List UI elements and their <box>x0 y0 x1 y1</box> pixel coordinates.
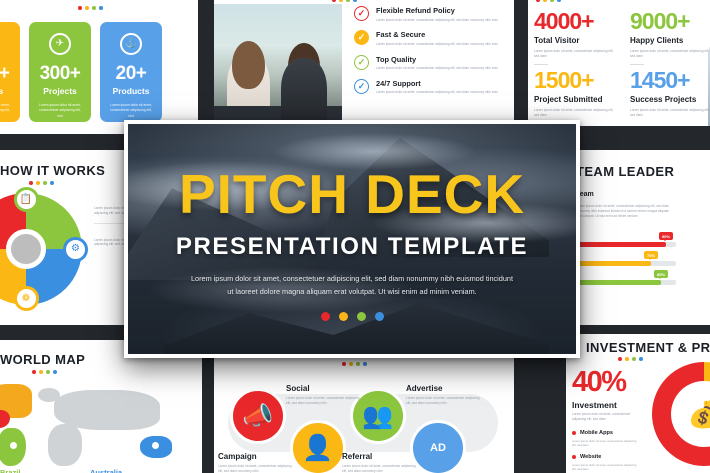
feature-item-support[interactable]: ✓ 24/7 Support Lorem ipsum dolor sit ame… <box>354 79 506 95</box>
counter-success-projects[interactable]: 1450+ Success Projects Lorem ipsum dolor… <box>630 69 710 118</box>
process-title: Social <box>286 384 364 393</box>
stat-label: Clients <box>0 86 3 96</box>
feature-item-fast-secure[interactable]: ✓ Fast & Secure Lorem ipsum dolor sit am… <box>354 30 506 46</box>
stat-label: Products <box>113 86 150 96</box>
legend-bullet-icon <box>572 431 576 435</box>
investment-label: Investment <box>572 400 617 410</box>
counter-number: 1500+ <box>534 69 616 92</box>
feature-desc: Lorem ipsum dolor sit amet, consectetuer… <box>376 66 498 71</box>
process-desc: Lorem ipsum dolor sit amet, consectetuer… <box>286 396 364 406</box>
dot-green <box>46 370 50 374</box>
page-title: WORLD MAP <box>0 352 85 367</box>
legend-name: Mobile Apps <box>580 430 613 436</box>
counter-number: 9000+ <box>630 10 710 33</box>
page-title: INVESTMENT & PRO <box>586 340 710 355</box>
feature-title: Flexible Refund Policy <box>376 6 498 15</box>
gear-glyph: ⚙ <box>71 244 80 254</box>
preview-stage: ⚒ 700+ Clients Lorem ipsum dolor sit ame… <box>0 0 710 473</box>
layers-icon: ⚓ <box>120 33 142 55</box>
hero-paragraph: Lorem ipsum dolor sit amet, consectetuer… <box>187 273 517 299</box>
stat-desc: Lorem ipsum dolor sit amet, consectetuer… <box>109 103 153 119</box>
skill-bar-row[interactable]: 90% <box>576 242 676 247</box>
stat-number: 300+ <box>40 63 81 85</box>
skill-value-badge: 85% <box>654 270 668 278</box>
dot-yellow <box>36 181 40 185</box>
check-icon: ✓ <box>354 30 369 45</box>
feature-title: Top Quality <box>376 55 498 64</box>
skill-value: 85% <box>657 272 665 277</box>
clipboard-icon[interactable]: 📋 <box>14 187 39 212</box>
dot-yellow <box>625 357 629 361</box>
map-marker-name: Australia <box>90 468 122 473</box>
rocket-icon: ✈ <box>49 33 71 55</box>
dot-blue <box>639 357 643 361</box>
users-glyph: 👥 <box>362 402 393 431</box>
counter-project-submitted[interactable]: 1500+ Project Submitted Lorem ipsum dolo… <box>534 69 616 118</box>
map-marker-name: Brazil <box>0 468 20 473</box>
dot-green <box>550 0 554 2</box>
dot-yellow <box>543 0 547 2</box>
stat-desc: Lorem ipsum dolor sit amet, consectetuer… <box>0 103 11 119</box>
dot-green <box>632 357 636 361</box>
process-label-social: Social Lorem ipsum dolor sit amet, conse… <box>286 384 364 406</box>
counter-desc: Lorem ipsum dolor sit amet, consectetuer… <box>630 49 710 59</box>
skill-value: 75% <box>647 253 655 258</box>
money-bag-glyph: 💰 <box>688 399 710 430</box>
clipboard-glyph: 📋 <box>20 195 32 205</box>
dot-green <box>92 6 96 10</box>
dot-yellow[interactable] <box>339 312 348 321</box>
dot-yellow <box>85 6 89 10</box>
feature-title: Fast & Secure <box>376 30 498 39</box>
skill-bar-fill <box>576 242 666 247</box>
counter-label: Project Submitted <box>534 95 616 104</box>
dot-green <box>346 0 350 2</box>
slide-world-map[interactable]: WORLD MAP Brazil Lorem ipsum dolor sit a… <box>0 340 202 473</box>
rocket-glyph: ✈ <box>56 39 64 49</box>
skill-value-badge: 90% <box>659 232 673 240</box>
stat-card-products[interactable]: ⚓ 20+ Products Lorem ipsum dolor sit ame… <box>100 22 162 122</box>
feature-desc: Lorem ipsum dolor sit amet, consectetuer… <box>376 18 498 23</box>
counter-desc: Lorem ipsum dolor sit amet, consectetuer… <box>630 108 710 118</box>
stat-card-row: ⚒ 700+ Clients Lorem ipsum dolor sit ame… <box>0 22 162 122</box>
skill-value: 90% <box>662 234 670 239</box>
gear-icon[interactable]: ⚙ <box>63 237 88 262</box>
stat-number: 20+ <box>116 63 147 85</box>
feature-item-top-quality[interactable]: ✓ Top Quality Lorem ipsum dolor sit amet… <box>354 55 506 71</box>
legend-desc: Lorem ipsum dolor sit amet, consectetuer… <box>572 463 638 471</box>
slide-dots-indicator <box>32 370 57 374</box>
slide-dots-indicator <box>618 357 643 361</box>
skill-bar-list: 90% 75% 85% <box>576 242 676 299</box>
feature-desc: Lorem ipsum dolor sit amet, consectetuer… <box>376 42 498 47</box>
user-glyph: 👤 <box>302 434 333 463</box>
skill-bar-track <box>576 280 676 285</box>
map-label-australia: Australia Lorem ipsum dolor sit amet, co… <box>90 468 159 473</box>
investment-percentage: 40% <box>572 366 626 399</box>
dot-red <box>32 370 36 374</box>
slide-dots-indicator <box>332 0 357 2</box>
process-label-campaign: Campaign Lorem ipsum dolor sit amet, con… <box>218 452 296 473</box>
slide-features[interactable]: ✓ Flexible Refund Policy Lorem ipsum dol… <box>214 0 514 126</box>
process-title: Referral <box>342 452 420 461</box>
team-paragraph: Lorem ipsum dolor sit amet, consectetuer… <box>576 204 672 218</box>
megaphone-icon[interactable]: 📣 <box>230 388 286 444</box>
divider <box>534 64 548 65</box>
money-bag-icon: 💰 <box>671 381 710 447</box>
dot-yellow <box>349 362 353 366</box>
hero-subtitle: PRESENTATION TEMPLATE <box>176 233 528 261</box>
check-icon: ✓ <box>354 55 369 70</box>
dot-yellow <box>39 370 43 374</box>
counter-grid: 4000+ Total Visitor Lorem ipsum dolor si… <box>534 10 710 119</box>
legend-item-website[interactable]: Website Lorem ipsum dolor sit amet, cons… <box>572 454 638 471</box>
dot-red <box>536 0 540 2</box>
feature-title: 24/7 Support <box>376 79 498 88</box>
slide-dots-indicator <box>536 0 561 2</box>
counter-label: Success Projects <box>630 95 710 104</box>
feature-desc: Lorem ipsum dolor sit amet, consectetuer… <box>376 90 498 95</box>
process-label-advertise: Advertise Lorem ipsum dolor sit amet, co… <box>406 384 484 406</box>
hero-title: PITCH DECK <box>179 167 525 222</box>
dot-red[interactable] <box>321 312 330 321</box>
legend-title: Mobile Apps <box>572 430 638 436</box>
landmass-africa <box>48 424 82 466</box>
process-title: Campaign <box>218 452 296 461</box>
skill-value-badge: 75% <box>644 251 658 259</box>
photo-person-right <box>288 43 320 89</box>
skill-bar-row[interactable]: 75% <box>576 261 676 266</box>
dot-green[interactable] <box>357 312 366 321</box>
process-wheel-diagram: 📋 ⚙ ❁ ⌖ <box>0 193 82 305</box>
counter-label: Happy Clients <box>630 36 710 45</box>
stat-number: 700+ <box>0 63 9 85</box>
dot-red <box>78 6 82 10</box>
check-icon: ✓ <box>354 6 369 21</box>
skill-bar-row[interactable]: 85% <box>576 280 676 285</box>
process-desc: Lorem ipsum dolor sit amet, consectetuer… <box>406 396 484 406</box>
feature-list: ✓ Flexible Refund Policy Lorem ipsum dol… <box>354 6 506 103</box>
divider <box>630 64 644 65</box>
target-icon[interactable]: ❁ <box>14 286 39 311</box>
counter-number: 4000+ <box>534 10 616 33</box>
dot-blue <box>53 370 57 374</box>
target-glyph: ❁ <box>22 294 30 304</box>
legend-item-mobile-apps[interactable]: Mobile Apps Lorem ipsum dolor sit amet, … <box>572 430 638 447</box>
megaphone-glyph: 📣 <box>242 402 273 431</box>
legend-bullet-icon <box>572 455 576 459</box>
dot-blue <box>557 0 561 2</box>
dot-red <box>332 0 336 2</box>
counter-desc: Lorem ipsum dolor sit amet, consectetuer… <box>534 108 616 118</box>
investment-paragraph: Lorem ipsum dolor sit amet, consectetuer… <box>572 412 634 422</box>
legend-title: Website <box>572 454 638 460</box>
skill-bar-track <box>576 242 676 247</box>
process-desc: Lorem ipsum dolor sit amet, consectetuer… <box>218 464 296 473</box>
slide-dots-indicator <box>78 6 103 10</box>
counter-happy-clients[interactable]: 9000+ Happy Clients Lorem ipsum dolor si… <box>630 10 710 65</box>
process-chain: 📣 👤 👥 AD Campaign Lorem ipsum dolor sit … <box>214 372 514 473</box>
landmass-usa-highlight[interactable] <box>0 410 10 428</box>
dot-blue <box>363 362 367 366</box>
user-icon[interactable]: 👤 <box>290 420 346 473</box>
page-title: HOW IT WORKS <box>0 163 105 178</box>
skill-bar-fill <box>576 261 651 266</box>
skill-bar-track <box>576 261 676 266</box>
investment-donut-chart[interactable]: 💰 <box>652 362 710 466</box>
process-title: Advertise <box>406 384 484 393</box>
skill-bar-fill <box>576 280 661 285</box>
dot-yellow <box>339 0 343 2</box>
counter-number: 1450+ <box>630 69 710 92</box>
layers-glyph: ⚓ <box>125 39 137 49</box>
stat-card-projects[interactable]: ✈ 300+ Projects Lorem ipsum dolor sit am… <box>29 22 91 122</box>
legend-desc: Lorem ipsum dolor sit amet, consectetuer… <box>572 439 638 447</box>
hero-content: PITCH DECK PRESENTATION TEMPLATE Lorem i… <box>128 124 576 354</box>
stat-desc: Lorem ipsum dolor sit amet, consectetuer… <box>38 103 82 119</box>
dot-blue[interactable] <box>375 312 384 321</box>
dot-red <box>618 357 622 361</box>
photo-person-left <box>232 41 265 90</box>
office-photo <box>214 4 342 126</box>
process-desc: Lorem ipsum dolor sit amet, consectetuer… <box>342 464 420 473</box>
counter-desc: Lorem ipsum dolor sit amet, consectetuer… <box>534 49 616 59</box>
dot-green <box>356 362 360 366</box>
dot-green <box>43 181 47 185</box>
dot-blue <box>50 181 54 185</box>
dot-blue <box>353 0 357 2</box>
process-label-referral: Referral Lorem ipsum dolor sit amet, con… <box>342 452 420 473</box>
dot-red <box>29 181 33 185</box>
counter-total-visitor[interactable]: 4000+ Total Visitor Lorem ipsum dolor si… <box>534 10 616 65</box>
slide-hero-title[interactable]: PITCH DECK PRESENTATION TEMPLATE Lorem i… <box>124 120 580 358</box>
map-label-brazil: Brazil Lorem ipsum dolor sit amet, conse… <box>0 468 69 473</box>
slide-counters[interactable]: 4000+ Total Visitor Lorem ipsum dolor si… <box>528 0 710 126</box>
slide-dots-indicator <box>342 362 367 366</box>
feature-item-refund[interactable]: ✓ Flexible Refund Policy Lorem ipsum dol… <box>354 6 506 22</box>
ad-glyph: AD <box>430 442 446 454</box>
counter-label: Total Visitor <box>534 36 616 45</box>
slide-dots-indicator <box>29 181 54 185</box>
slide-process-circles[interactable]: 📣 👤 👥 AD Campaign Lorem ipsum dolor sit … <box>214 358 514 473</box>
slide-stat-cards[interactable]: ⚒ 700+ Clients Lorem ipsum dolor sit ame… <box>0 0 198 134</box>
dot-blue <box>99 6 103 10</box>
legend-name: Website <box>580 454 601 460</box>
world-map-graphic: Brazil Lorem ipsum dolor sit amet, conse… <box>0 380 196 473</box>
check-icon: ✓ <box>354 79 369 94</box>
divider <box>94 223 128 224</box>
stat-label: Projects <box>43 86 77 96</box>
map-pin-australia[interactable] <box>150 440 161 451</box>
map-pin-brazil[interactable] <box>8 440 19 451</box>
dot-red <box>342 362 346 366</box>
slide-team-leader[interactable]: TEAM LEADER Team Lorem ipsum dolor sit a… <box>566 150 710 325</box>
hero-dots-indicator[interactable] <box>321 312 384 321</box>
stat-card-clients[interactable]: ⚒ 700+ Clients Lorem ipsum dolor sit ame… <box>0 22 20 122</box>
wheel-center-hub <box>6 229 46 269</box>
slide-investment[interactable]: INVESTMENT & PRO 40% Investment Lorem ip… <box>566 334 710 473</box>
page-title: TEAM LEADER <box>576 164 674 179</box>
